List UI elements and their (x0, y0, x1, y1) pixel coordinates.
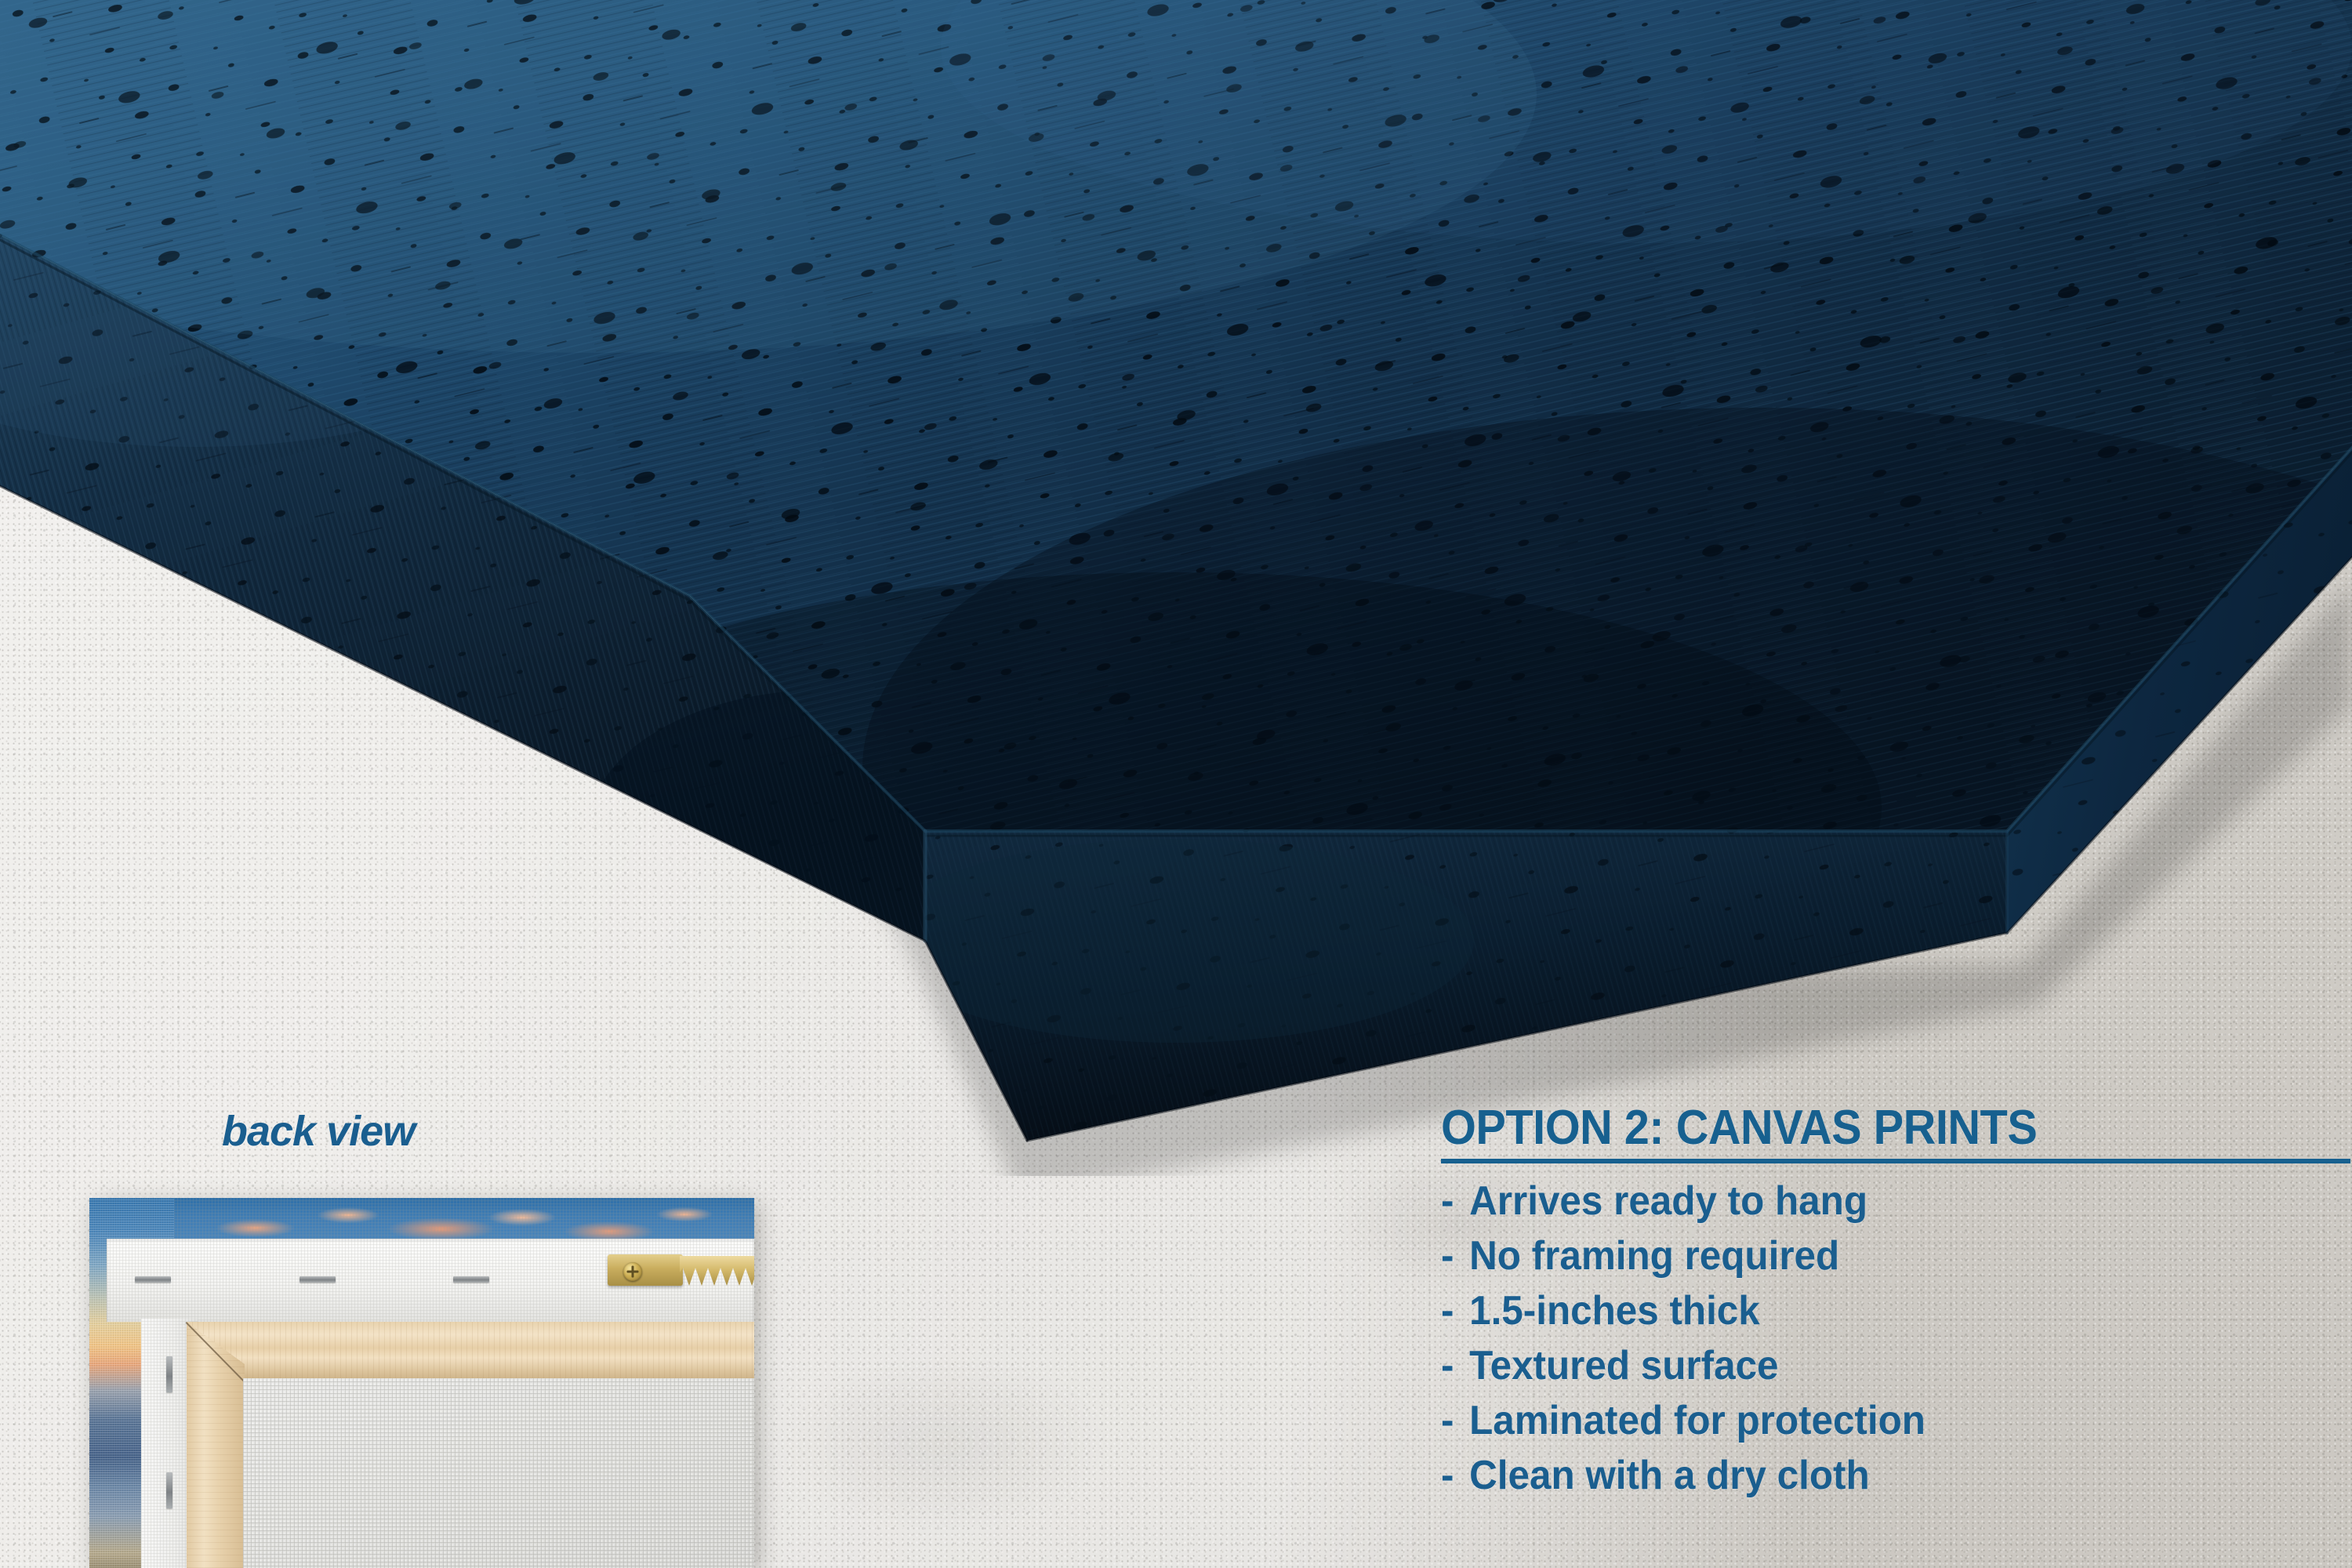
canvas-weave-back (243, 1378, 754, 1568)
bullet-dash: - (1441, 1236, 1469, 1276)
wood-grain-top (187, 1322, 754, 1380)
feature-list: - Arrives ready to hang - No framing req… (1441, 1181, 2352, 1496)
list-item: - Laminated for protection (1441, 1400, 2307, 1441)
sawtooth-hanger (608, 1247, 754, 1295)
list-item-label: Laminated for protection (1469, 1400, 1926, 1441)
staple-icon (166, 1356, 172, 1392)
list-item: - No framing required (1441, 1236, 2307, 1276)
stretcher-bar-top (187, 1322, 754, 1380)
canvas-print-mockup (0, 0, 2352, 1176)
staple-icon (135, 1276, 171, 1283)
product-photo-composite: back view (0, 0, 2352, 1568)
canvas-back-field (243, 1378, 754, 1568)
back-view-label: back view (222, 1107, 415, 1156)
option-info-block: OPTION 2: CANVAS PRINTS - Arrives ready … (1441, 1104, 2352, 1510)
bullet-dash: - (1441, 1290, 1469, 1331)
back-view-thumbnail (49, 1198, 754, 1568)
bullet-dash: - (1441, 1400, 1469, 1441)
list-item-label: Textured surface (1469, 1345, 1778, 1386)
list-item-label: Arrives ready to hang (1469, 1181, 1867, 1221)
stretcher-miter-joint (187, 1322, 248, 1383)
list-item: - Textured surface (1441, 1345, 2307, 1386)
printed-edge-top (174, 1198, 754, 1241)
bullet-dash: - (1441, 1181, 1469, 1221)
staple-icon (453, 1276, 489, 1283)
list-item: - 1.5-inches thick (1441, 1290, 2307, 1331)
list-item-label: 1.5-inches thick (1469, 1290, 1760, 1331)
option-title: OPTION 2: CANVAS PRINTS (1441, 1104, 2288, 1152)
list-item-label: Clean with a dry cloth (1469, 1455, 1870, 1496)
staple-icon (299, 1276, 336, 1283)
staple-icon (166, 1472, 172, 1508)
hanger-plate (608, 1254, 683, 1286)
title-underline (1441, 1159, 2350, 1163)
list-item-label: No framing required (1469, 1236, 1839, 1276)
canvas-weave-top (174, 1198, 754, 1241)
canvas-slab-svg (0, 0, 2352, 1176)
hanger-teeth (680, 1256, 754, 1286)
bullet-dash: - (1441, 1345, 1469, 1386)
list-item: - Clean with a dry cloth (1441, 1455, 2307, 1496)
screw-icon (623, 1262, 642, 1281)
bullet-dash: - (1441, 1455, 1469, 1496)
list-item: - Arrives ready to hang (1441, 1181, 2307, 1221)
